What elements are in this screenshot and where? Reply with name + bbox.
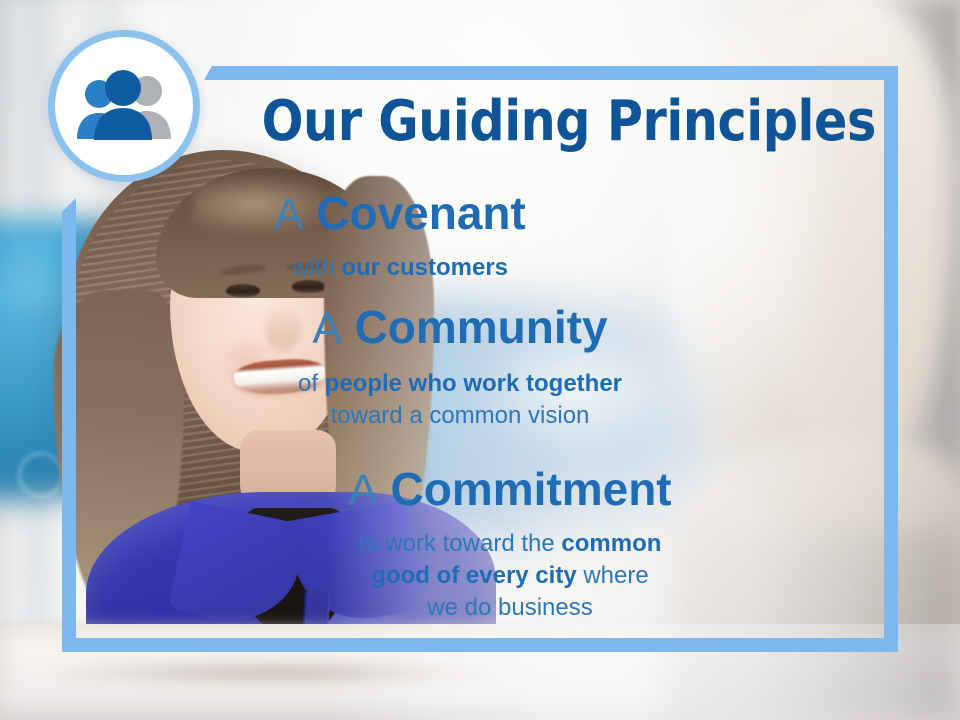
principle-community-subtext: of people who work together toward a com… [80, 368, 840, 432]
principle-commitment-article: A [348, 466, 377, 515]
principle-community-subline-2: toward a common vision [80, 400, 840, 432]
principle-covenant-heading: A Covenant [20, 186, 780, 242]
commitment-sub2-bold: good of every city [371, 562, 576, 589]
principle-commitment-keyword: Commitment [391, 463, 672, 515]
guiding-principles-poster: FLOW FLOW [0, 0, 960, 720]
principle-covenant-keyword: Covenant [316, 187, 526, 239]
principle-commitment-subtext: to work toward the common good of every … [130, 528, 890, 624]
principle-community-heading: A Community [80, 300, 840, 356]
principle-covenant-subline-1: with our customers [20, 252, 780, 284]
page-title: Our Guiding Principles [262, 92, 843, 152]
community-sub1-bold: people who work together [325, 370, 622, 397]
principle-community-subline-1: of people who work together [80, 368, 840, 400]
principle-commitment-subline-2: good of every city where [130, 560, 890, 592]
commitment-sub1-plain: to work toward the [359, 530, 562, 557]
principle-commitment: A Commitment to work toward the common g… [130, 462, 890, 624]
commitment-sub2-plain: where [577, 562, 649, 589]
principle-covenant: A Covenant with our customers [20, 186, 780, 284]
principle-commitment-subline-1: to work toward the common [130, 528, 890, 560]
covenant-sub-bold: our customers [341, 254, 508, 281]
principle-covenant-article: A [274, 190, 303, 239]
principle-community-keyword: Community [355, 301, 608, 353]
principle-covenant-subtext: with our customers [20, 252, 780, 284]
community-sub1-plain: of [298, 370, 325, 397]
principle-commitment-subline-3: we do business [130, 592, 890, 624]
commitment-sub1-bold: common [561, 530, 661, 557]
principle-community-article: A [312, 304, 341, 353]
principle-commitment-heading: A Commitment [130, 462, 890, 518]
principle-community: A Community of people who work together … [80, 300, 840, 432]
poster-text-content: Our Guiding Principles A Covenant with o… [0, 0, 960, 720]
covenant-sub-plain: with [292, 254, 341, 281]
